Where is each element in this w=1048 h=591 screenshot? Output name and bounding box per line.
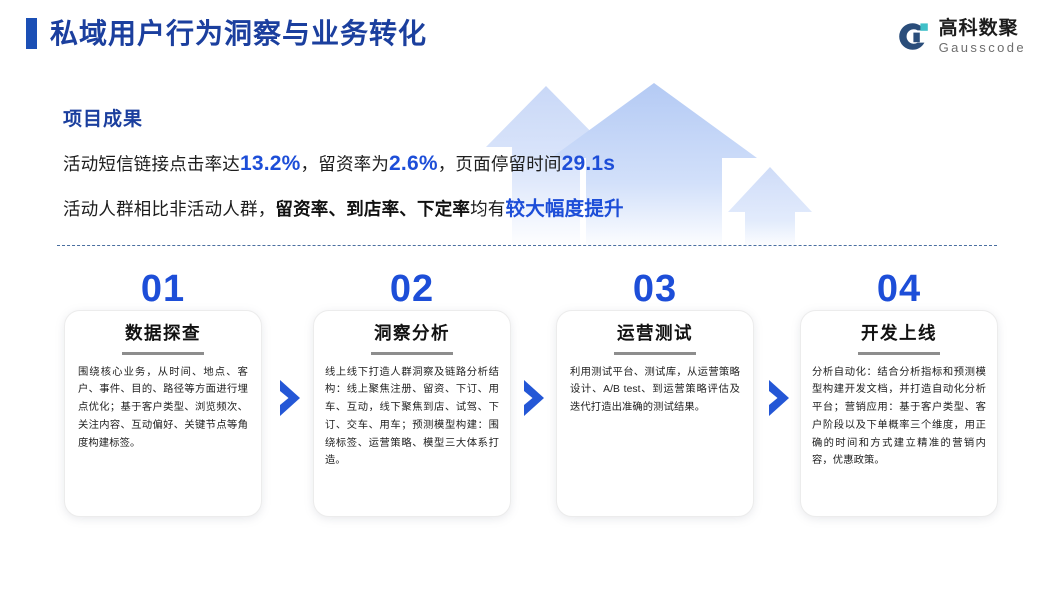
- step-description: 线上线下打造人群洞察及链路分析结构：线上聚焦注册、留资、下订、用车、互动，线下聚…: [325, 364, 499, 470]
- step-description: 分析自动化：结合分析指标和预测模型构建开发文档，并打造自动化分析平台；营销应用：…: [812, 364, 986, 470]
- page-header: 私域用户行为洞察与业务转化 高科数聚 Gausscode: [0, 0, 1048, 78]
- brand-name-en: Gausscode: [939, 40, 1026, 56]
- step-card[interactable]: 运营测试 利用测试平台、测试库，从运营策略设计、A/B test、到运营策略评估…: [556, 310, 754, 517]
- metrics-text-3: ，页面停留时间: [438, 154, 562, 174]
- title-accent-bar: [26, 18, 37, 49]
- chevron-right-icon: [766, 378, 792, 418]
- step-title: 数据探查: [65, 324, 261, 343]
- dashed-divider: [57, 245, 997, 246]
- gausscode-g-logo-icon: [896, 20, 930, 54]
- results-comparison-line: 活动人群相比非活动人群，留资率、到店率、下定率均有较大幅度提升: [63, 200, 763, 220]
- project-results-section: 项目成果 活动短信链接点击率达13.2%，留资率为2.6%，页面停留时间29.1…: [63, 110, 763, 246]
- step-description: 围绕核心业务，从时间、地点、客户、事件、目的、路径等方面进行埋点优化；基于客户类…: [78, 364, 248, 453]
- step-title-rule: [122, 352, 204, 355]
- chevron-right-icon: [521, 378, 547, 418]
- step-card[interactable]: 数据探查 围绕核心业务，从时间、地点、客户、事件、目的、路径等方面进行埋点优化；…: [64, 310, 262, 517]
- metric-value-dwell-time: 29.1s: [562, 152, 616, 175]
- step-title: 洞察分析: [314, 324, 510, 343]
- step-title-rule: [614, 352, 696, 355]
- step-number: 03: [556, 270, 754, 308]
- page-title: 私域用户行为洞察与业务转化: [50, 20, 427, 48]
- comparison-text-2: 均有: [470, 199, 505, 219]
- chevron-right-icon: [277, 378, 303, 418]
- comparison-text-1: 活动人群相比非活动人群，: [63, 199, 275, 219]
- process-flow: 01 数据探查 围绕核心业务，从时间、地点、客户、事件、目的、路径等方面进行埋点…: [0, 270, 1048, 530]
- page-title-group: 私域用户行为洞察与业务转化: [26, 18, 427, 49]
- brand-logo-text: 高科数聚 Gausscode: [939, 18, 1026, 55]
- brand-name-cn: 高科数聚: [939, 18, 1026, 40]
- results-metrics-line: 活动短信链接点击率达13.2%，留资率为2.6%，页面停留时间29.1s: [63, 153, 763, 174]
- step-card[interactable]: 开发上线 分析自动化：结合分析指标和预测模型构建开发文档，并打造自动化分析平台；…: [800, 310, 998, 517]
- metric-value-lead-rate: 2.6%: [389, 152, 438, 175]
- step-card[interactable]: 洞察分析 线上线下打造人群洞察及链路分析结构：线上聚焦注册、留资、下订、用车、互…: [313, 310, 511, 517]
- comparison-metrics-bold: 留资率、到店率、下定率: [275, 199, 470, 219]
- metric-value-ctr: 13.2%: [240, 152, 301, 175]
- brand-logo: 高科数聚 Gausscode: [896, 18, 1026, 55]
- results-heading: 项目成果: [63, 110, 763, 129]
- step-title-rule: [371, 352, 453, 355]
- step-number: 01: [64, 270, 262, 308]
- metrics-text-1: 活动短信链接点击率达: [63, 154, 240, 174]
- step-title: 开发上线: [801, 324, 997, 343]
- step-number: 02: [313, 270, 511, 308]
- step-title-rule: [858, 352, 940, 355]
- step-number: 04: [800, 270, 998, 308]
- comparison-highlight: 较大幅度提升: [506, 198, 624, 220]
- metrics-text-2: ，留资率为: [301, 154, 390, 174]
- step-description: 利用测试平台、测试库，从运营策略设计、A/B test、到运营策略评估及迭代打造…: [570, 364, 740, 417]
- step-title: 运营测试: [557, 324, 753, 343]
